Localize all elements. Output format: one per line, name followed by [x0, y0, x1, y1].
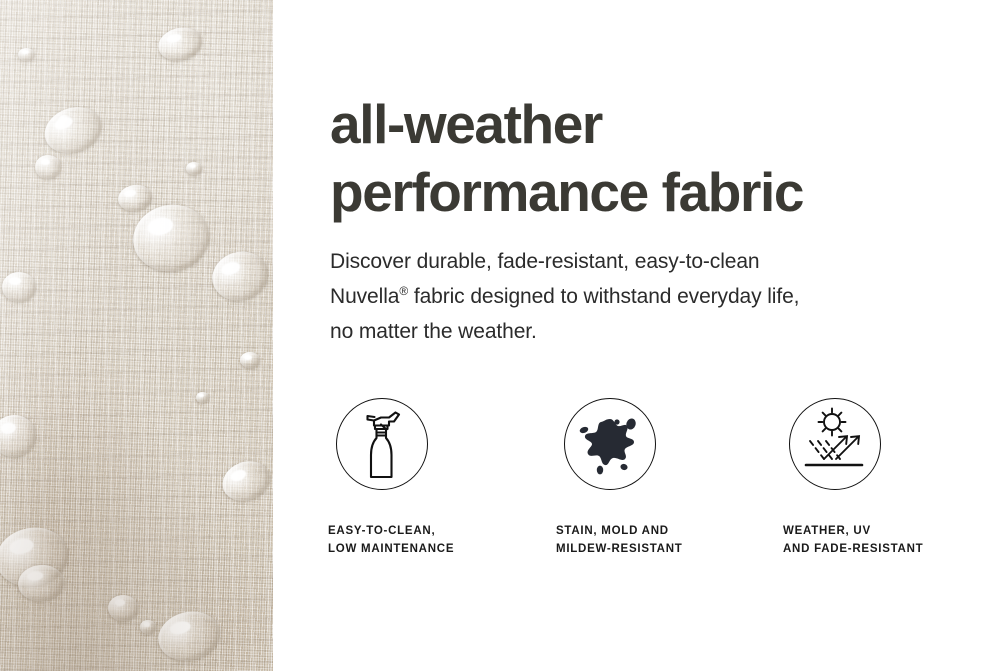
feature-label-uv-resistant: WEATHER, UV AND FADE-RESISTANT [783, 490, 983, 558]
feature-item-uv-resistant: WEATHER, UV AND FADE-RESISTANT [783, 398, 983, 558]
page-title: all-weather performance fabric [330, 90, 803, 226]
water-beading-on-fabric-photo [0, 0, 273, 671]
spray-bottle-icon [336, 398, 428, 490]
photo-shading-overlay [0, 0, 273, 671]
promo-banner: all-weather performance fabric Discover … [0, 0, 1005, 671]
feature-item-stain-resistant: STAIN, MOLD AND MILDEW-RESISTANT [556, 398, 766, 558]
feature-item-easy-to-clean: EASY-TO-CLEAN, LOW MAINTENANCE [328, 398, 538, 558]
feature-label-stain-resistant: STAIN, MOLD AND MILDEW-RESISTANT [556, 490, 766, 558]
promo-content: all-weather performance fabric Discover … [330, 0, 980, 671]
sun-uv-reflect-icon [789, 398, 881, 490]
promo-description: Discover durable, fade-resistant, easy-t… [330, 244, 799, 349]
feature-label-easy-to-clean: EASY-TO-CLEAN, LOW MAINTENANCE [328, 490, 538, 558]
registered-trademark-icon: ® [399, 284, 408, 298]
stain-splatter-icon [564, 398, 656, 490]
